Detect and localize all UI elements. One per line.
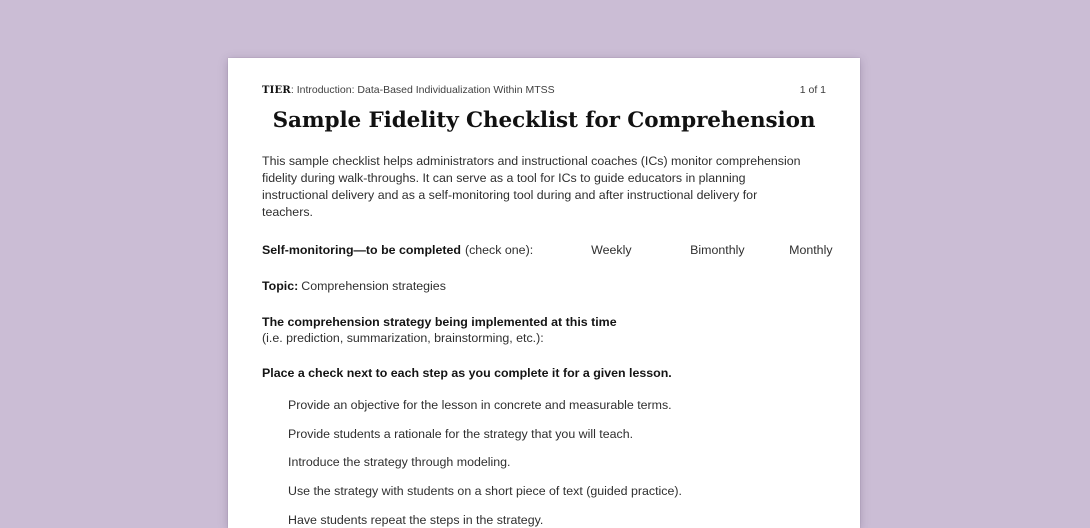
checklist-item[interactable]: Have students repeat the steps in the st… xyxy=(288,512,826,528)
running-header: TIER: Introduction: Data-Based Individua… xyxy=(262,84,826,97)
checklist-item[interactable]: Provide students a rationale for the str… xyxy=(288,426,826,442)
self-monitoring-note: (check one): xyxy=(465,242,533,259)
self-monitoring-label: Self-monitoring—to be completed xyxy=(262,242,461,259)
strategy-heading: The comprehension strategy being impleme… xyxy=(262,314,826,330)
checklist-item[interactable]: Provide an objective for the lesson in c… xyxy=(288,397,826,413)
frequency-options: Weekly Bimonthly Monthly xyxy=(591,242,832,259)
intro-paragraph: This sample checklist helps administrato… xyxy=(262,153,810,221)
checklist: Provide an objective for the lesson in c… xyxy=(262,397,826,528)
document-page: TIER: Introduction: Data-Based Individua… xyxy=(228,58,860,528)
frequency-option-monthly[interactable]: Monthly xyxy=(789,242,832,259)
checklist-instruction: Place a check next to each step as you c… xyxy=(262,365,826,382)
page-count-indicator: 1 of 1 xyxy=(800,84,826,97)
document-viewport: TIER: Introduction: Data-Based Individua… xyxy=(0,0,1090,506)
strategy-block: The comprehension strategy being impleme… xyxy=(262,314,826,347)
page-title: Sample Fidelity Checklist for Comprehens… xyxy=(262,109,826,134)
header-breadcrumb-text: : Introduction: Data-Based Individualiza… xyxy=(291,84,555,96)
header-breadcrumb: TIER: Introduction: Data-Based Individua… xyxy=(262,84,555,97)
checklist-item[interactable]: Use the strategy with students on a shor… xyxy=(288,483,826,499)
self-monitoring-row: Self-monitoring—to be completed (check o… xyxy=(262,242,826,259)
topic-value: Comprehension strategies xyxy=(301,279,446,293)
topic-row: Topic:Comprehension strategies xyxy=(262,278,826,295)
topic-label: Topic: xyxy=(262,279,298,293)
checklist-item[interactable]: Introduce the strategy through modeling. xyxy=(288,454,826,470)
strategy-examples: (i.e. prediction, summarization, brainst… xyxy=(262,330,826,346)
frequency-option-weekly[interactable]: Weekly xyxy=(591,242,690,259)
frequency-option-bimonthly[interactable]: Bimonthly xyxy=(690,242,789,259)
tier-brand-mark: TIER xyxy=(262,85,291,96)
